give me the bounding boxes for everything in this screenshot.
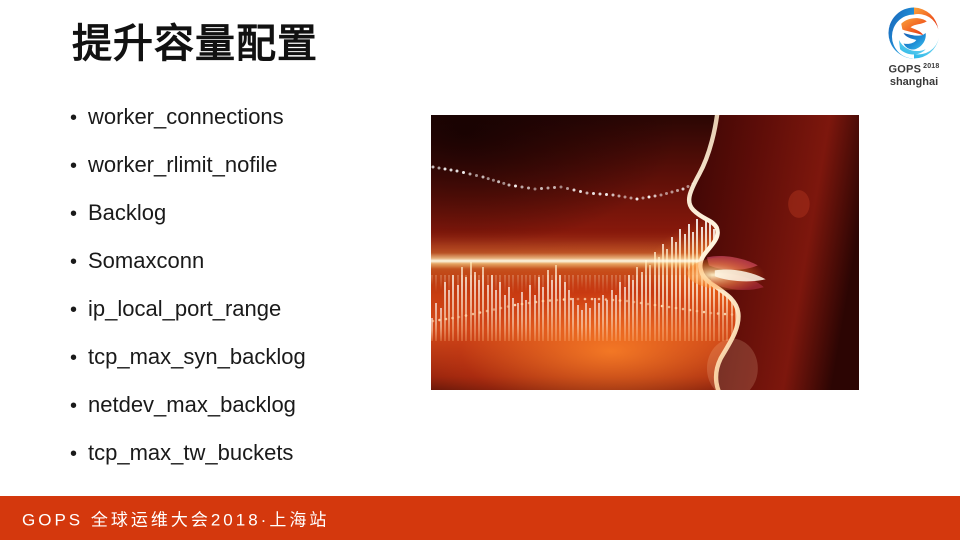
list-item-label: tcp_max_tw_buckets	[88, 440, 293, 466]
gops-logo: GOPS2018 shanghai	[874, 2, 954, 94]
bullet-dot-icon: •	[70, 156, 88, 176]
bullet-list: • worker_connections • worker_rlimit_nof…	[70, 104, 410, 488]
list-item: • worker_rlimit_nofile	[70, 152, 410, 200]
hero-image-background	[431, 115, 859, 390]
slide-hero-image	[431, 115, 859, 390]
page-title: 提升容量配置	[72, 20, 318, 68]
list-item-label: tcp_max_syn_backlog	[88, 344, 306, 370]
list-item-label: Backlog	[88, 200, 166, 226]
list-item: • Somaxconn	[70, 248, 410, 296]
footer-bar: GOPS 全球运维大会2018·上海站	[0, 496, 960, 540]
list-item-label: Somaxconn	[88, 248, 204, 274]
list-item: • tcp_max_tw_buckets	[70, 440, 410, 488]
logo-wordmark-text: GOPS	[889, 64, 922, 76]
footer-text: GOPS 全球运维大会2018·上海站	[22, 506, 329, 531]
logo-wordmark: GOPS2018	[874, 63, 954, 76]
bullet-dot-icon: •	[70, 348, 88, 368]
bullet-dot-icon: •	[70, 444, 88, 464]
bullet-dot-icon: •	[70, 108, 88, 128]
bullet-dot-icon: •	[70, 204, 88, 224]
list-item-label: worker_connections	[88, 104, 284, 130]
list-item-label: ip_local_port_range	[88, 296, 281, 322]
bullet-dot-icon: •	[70, 300, 88, 320]
list-item: • Backlog	[70, 200, 410, 248]
list-item: • worker_connections	[70, 104, 410, 152]
list-item-label: worker_rlimit_nofile	[88, 152, 278, 178]
bullet-dot-icon: •	[70, 396, 88, 416]
logo-city: shanghai	[874, 76, 954, 90]
list-item-label: netdev_max_backlog	[88, 392, 296, 418]
gops-swirl-icon	[885, 4, 943, 62]
logo-year: 2018	[923, 63, 939, 70]
slide-canvas: 提升容量配置 • worker_connections • worker_rli…	[0, 0, 960, 540]
bullet-dot-icon: •	[70, 252, 88, 272]
list-item: • tcp_max_syn_backlog	[70, 344, 410, 392]
list-item: • ip_local_port_range	[70, 296, 410, 344]
list-item: • netdev_max_backlog	[70, 392, 410, 440]
